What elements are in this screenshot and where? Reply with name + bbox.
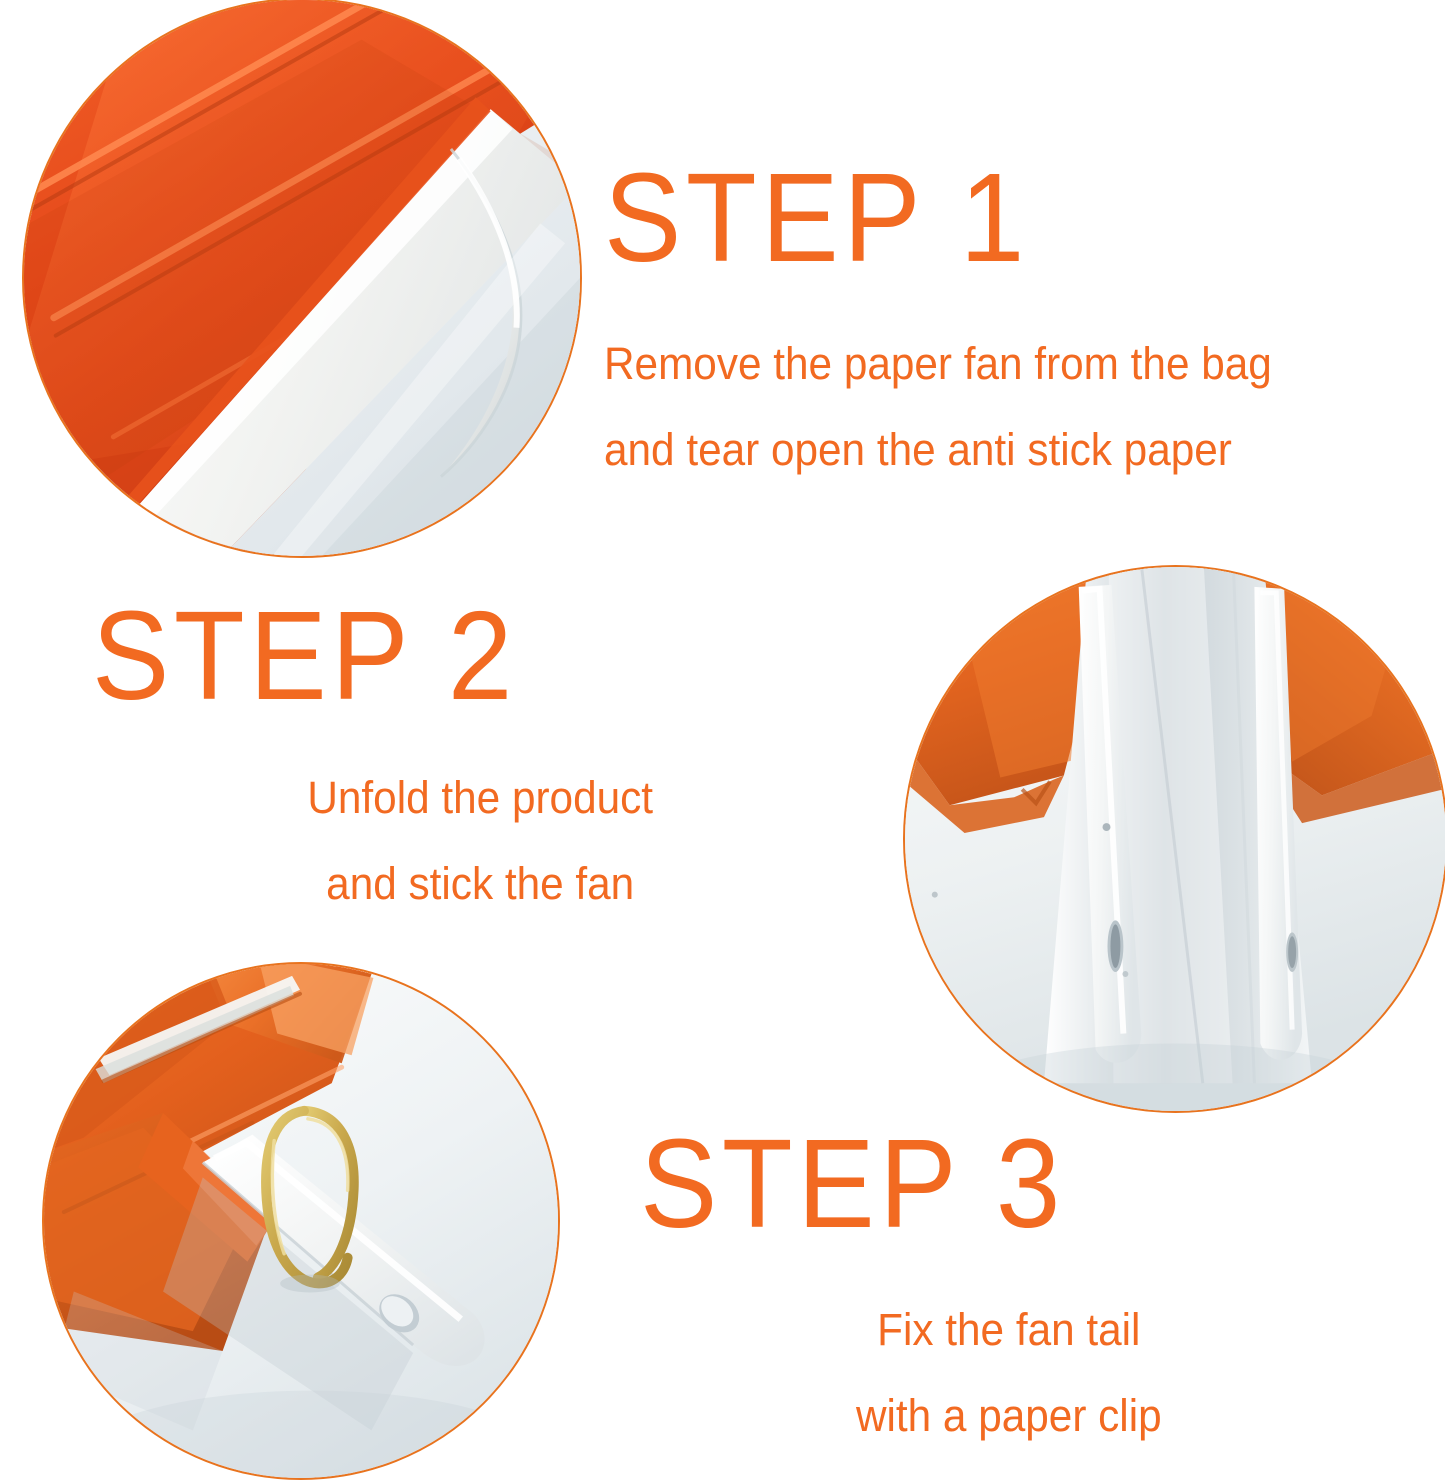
step-3-description-line-1: Fix the fan tail (699, 1287, 1319, 1373)
step-1-description-line-1: Remove the paper fan from the bag (604, 321, 1356, 407)
step-2-description-line-1: Unfold the product (170, 755, 790, 841)
step-1-heading: STEP 1 (604, 152, 1340, 283)
step-2-description: Unfold the product and stick the fan (114, 721, 791, 927)
step-3-description: Fix the fan tail with a paper clip (661, 1249, 1319, 1459)
step-3-heading: STEP 3 (640, 1118, 1284, 1249)
step-1-description: Remove the paper fan from the bag and te… (604, 283, 1356, 493)
step-1-block: STEP 1 Remove the paper fan from the bag… (604, 152, 1404, 493)
step-2-block: STEP 2 Unfold the product and stick the … (92, 590, 812, 927)
step-2-description-line-2: and stick the fan (170, 841, 790, 927)
step-3-description-line-2: with a paper clip (699, 1373, 1319, 1459)
step-2-heading: STEP 2 (92, 590, 754, 721)
step-2-photo (903, 565, 1445, 1113)
step-3-block: STEP 3 Fix the fan tail with a paper cli… (640, 1118, 1340, 1459)
step-3-photo (42, 962, 560, 1480)
instruction-graphic: STEP 1 Remove the paper fan from the bag… (0, 0, 1445, 1484)
step-1-photo (22, 0, 582, 558)
step-1-description-line-2: and tear open the anti stick paper (604, 407, 1356, 493)
